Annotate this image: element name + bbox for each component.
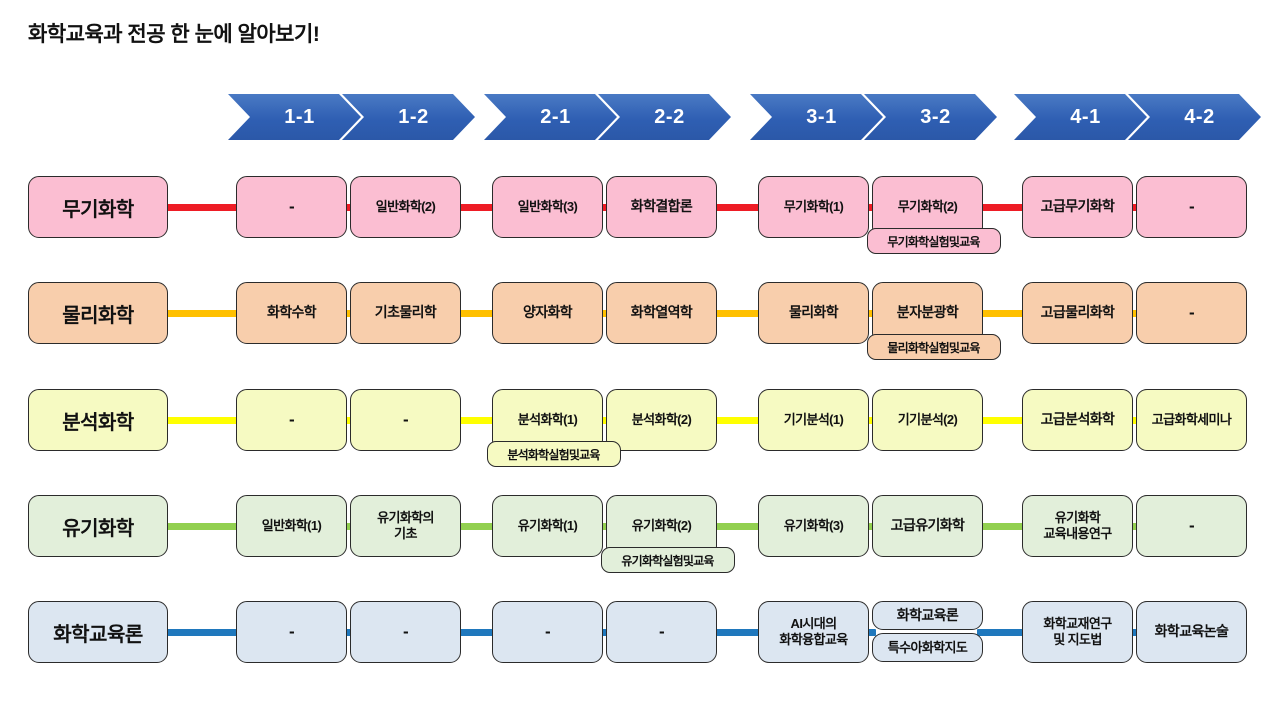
course-cell[interactable]: - [236,389,347,451]
course-cell-label: 일반화학(2) [376,199,436,215]
course-cell-label: 물리화학 [789,304,838,321]
semester-chevron-4-1: 4-1 [1014,94,1147,140]
course-cell-label: - [1189,516,1194,537]
track-label-text: 물리화학 [62,299,134,328]
semester-chevron-label: 4-2 [1184,106,1214,129]
course-cell-label: 유기화학(2) [632,518,692,534]
track-connector [977,523,1028,530]
course-cell[interactable]: - [492,601,603,663]
course-cell-label: - [403,410,408,431]
track-connector [711,629,764,636]
course-cell-label: 분자분광학 [897,304,958,321]
course-cell-label: 유기화학 교육내용연구 [1043,510,1111,542]
course-cell[interactable]: 고급유기화학 [872,495,983,557]
course-cell-label: 일반화학(1) [262,518,322,534]
course-cell-stacked[interactable]: 특수아화학지도 [872,633,983,662]
course-cell[interactable]: 고급무기화학 [1022,176,1133,238]
track-label-text: 화학교육론 [53,618,143,647]
page-title: 화학교육과 전공 한 눈에 알아보기! [28,18,319,48]
course-cell-label: - [1189,303,1194,324]
course-cell[interactable]: 일반화학(2) [350,176,461,238]
lab-course-cell[interactable]: 분석화학실험및교육 [487,441,621,467]
lab-course-cell[interactable]: 무기화학실험및교육 [867,228,1001,254]
semester-header-row: 1-11-22-12-23-13-24-14-2 [0,94,1280,140]
semester-chevron-4-2: 4-2 [1128,94,1261,140]
semester-chevron-2-2: 2-2 [598,94,731,140]
course-cell[interactable]: - [1136,495,1247,557]
course-cell-label: 유기화학의 기초 [377,510,434,542]
course-cell-label: - [289,410,294,431]
course-cell-label: 특수아화학지도 [888,640,968,656]
course-cell[interactable]: 유기화학의 기초 [350,495,461,557]
course-cell-label: 무기화학(1) [784,199,844,215]
course-cell-label: 고급분석화학 [1041,411,1115,428]
course-cell[interactable]: 유기화학(3) [758,495,869,557]
track-connector [977,204,1028,211]
course-cell[interactable]: - [236,176,347,238]
course-cell-label: - [1189,197,1194,218]
course-cell-label: 고급화학세미나 [1152,412,1232,428]
semester-chevron-label: 2-1 [540,106,570,129]
course-cell[interactable]: 무기화학(1) [758,176,869,238]
track-label-물리화학[interactable]: 물리화학 [28,282,168,344]
track-label-text: 분석화학 [62,406,134,435]
track-row-분석화학: 분석화학--분석화학(1)분석화학실험및교육분석화학(2)기기분석(1)기기분석… [0,389,1280,493]
lab-course-label: 물리화학실험및교육 [887,339,979,356]
course-cell-label: 화학교재연구 및 지도법 [1043,616,1111,648]
course-cell[interactable]: - [1136,282,1247,344]
course-cell[interactable]: 고급분석화학 [1022,389,1133,451]
semester-chevron-2-1: 2-1 [484,94,617,140]
track-connector [977,629,1028,636]
course-cell-label: 유기화학(1) [518,518,578,534]
track-label-text: 유기화학 [62,512,134,541]
course-cell[interactable]: 기기분석(1) [758,389,869,451]
lab-course-cell[interactable]: 물리화학실험및교육 [867,334,1001,360]
course-cell-label: - [289,197,294,218]
course-cell-label: 화학결합론 [631,198,692,215]
course-cell[interactable]: - [606,601,717,663]
course-cell[interactable]: 고급물리화학 [1022,282,1133,344]
track-row-화학교육론: 화학교육론----AI시대의 화학융합교육화학교육론특수아화학지도화학교재연구 … [0,601,1280,705]
course-cell[interactable]: 일반화학(1) [236,495,347,557]
semester-chevron-label: 3-2 [920,106,950,129]
semester-chevron-label: 1-1 [284,106,314,129]
course-cell-label: 분석화학(2) [632,412,692,428]
track-connector [164,523,242,530]
course-cell[interactable]: 물리화학 [758,282,869,344]
track-row-유기화학: 유기화학일반화학(1)유기화학의 기초유기화학(1)유기화학(2)유기화학실험및… [0,495,1280,599]
course-cell-label: 화학교육론 [897,607,958,624]
track-row-물리화학: 물리화학화학수학기초물리학양자화학화학열역학물리화학분자분광학물리화학실험및교육… [0,282,1280,386]
course-cell[interactable]: 양자화학 [492,282,603,344]
course-cell-label: - [659,622,664,643]
course-cell-label: 기기분석(2) [898,412,958,428]
semester-chevron-3-1: 3-1 [750,94,883,140]
course-cell-label: 화학교육논술 [1155,623,1229,640]
course-cell-label: - [545,622,550,643]
track-label-text: 무기화학 [62,193,134,222]
track-connector [164,629,242,636]
course-cell-label: - [289,622,294,643]
course-cell[interactable]: 화학결합론 [606,176,717,238]
course-cell[interactable]: 화학열역학 [606,282,717,344]
course-cell-label: 고급무기화학 [1041,198,1115,215]
lab-course-cell[interactable]: 유기화학실험및교육 [601,547,735,573]
course-cell-label: 무기화학(2) [898,199,958,215]
course-cell[interactable]: 유기화학(1) [492,495,603,557]
semester-chevron-label: 4-1 [1070,106,1100,129]
course-cell-label: - [403,622,408,643]
track-label-화학교육론[interactable]: 화학교육론 [28,601,168,663]
course-cell[interactable]: - [350,601,461,663]
track-connector [711,523,764,530]
course-cell-label: 유기화학(3) [784,518,844,534]
lab-course-label: 분석화학실험및교육 [507,446,599,463]
semester-chevron-label: 3-1 [806,106,836,129]
track-row-무기화학: 무기화학-일반화학(2)일반화학(3)화학결합론무기화학(1)무기화학(2)무기… [0,176,1280,280]
course-cell[interactable]: 유기화학 교육내용연구 [1022,495,1133,557]
track-connector [164,204,242,211]
course-cell-label: 화학수학 [267,304,316,321]
course-cell-label: AI시대의 화학융합교육 [779,616,847,648]
course-cell[interactable]: 화학교재연구 및 지도법 [1022,601,1133,663]
course-cell-label: 화학열역학 [631,304,692,321]
course-cell[interactable]: 기기분석(2) [872,389,983,451]
course-cell[interactable]: 기초물리학 [350,282,461,344]
course-cell[interactable]: 화학교육논술 [1136,601,1247,663]
track-connector [164,310,242,317]
course-cell[interactable]: AI시대의 화학융합교육 [758,601,869,663]
course-cell-label: 양자화학 [523,304,572,321]
course-cell[interactable]: - [1136,176,1247,238]
track-connector [711,417,764,424]
course-cell-label: 고급물리화학 [1041,304,1115,321]
course-cell-label: 기초물리학 [375,304,436,321]
track-connector [977,417,1028,424]
track-label-무기화학[interactable]: 무기화학 [28,176,168,238]
track-connector [711,204,764,211]
course-cell[interactable]: 화학교육론 [872,601,983,630]
course-cell-label: 분석화학(1) [518,412,578,428]
semester-chevron-1-2: 1-2 [342,94,475,140]
track-connector [164,417,242,424]
semester-chevron-label: 2-2 [654,106,684,129]
lab-course-label: 무기화학실험및교육 [887,233,979,250]
course-cell[interactable]: 고급화학세미나 [1136,389,1247,451]
course-cell[interactable]: 화학수학 [236,282,347,344]
track-label-분석화학[interactable]: 분석화학 [28,389,168,451]
course-cell[interactable]: 분석화학(2) [606,389,717,451]
track-label-유기화학[interactable]: 유기화학 [28,495,168,557]
course-cell[interactable]: - [236,601,347,663]
track-connector [977,310,1028,317]
course-cell-label: 고급유기화학 [891,517,965,534]
lab-course-label: 유기화학실험및교육 [621,552,713,569]
course-cell[interactable]: 일반화학(3) [492,176,603,238]
semester-chevron-3-2: 3-2 [864,94,997,140]
semester-chevron-label: 1-2 [398,106,428,129]
course-cell[interactable]: - [350,389,461,451]
semester-chevron-1-1: 1-1 [228,94,361,140]
course-cell-label: 기기분석(1) [784,412,844,428]
track-connector [711,310,764,317]
course-cell-label: 일반화학(3) [518,199,578,215]
